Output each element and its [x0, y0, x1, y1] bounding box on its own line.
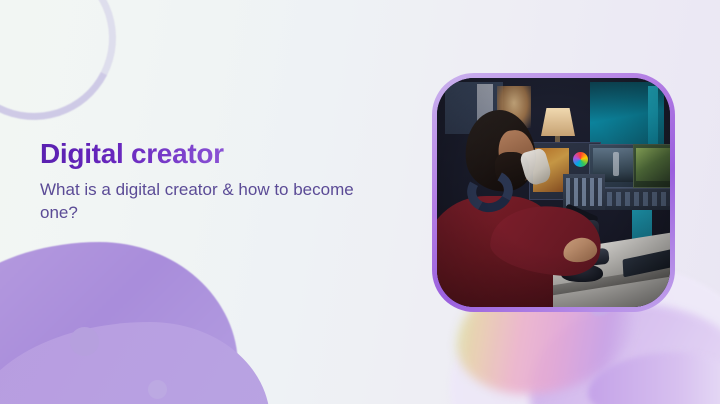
decorative-blob-bottom-left-secondary — [0, 322, 270, 404]
text-block: Digital creator What is a digital creato… — [40, 138, 400, 224]
decorative-blob-lilac-bottom-right — [530, 304, 720, 404]
photo-vignette — [437, 78, 670, 307]
decorative-circle-small-upper — [70, 327, 99, 356]
slide-canvas: Digital creator What is a digital creato… — [0, 0, 720, 404]
decorative-blob-bottom-left — [0, 242, 238, 404]
hero-image-frame — [437, 78, 670, 307]
page-subtitle: What is a digital creator & how to becom… — [40, 179, 385, 224]
page-title: Digital creator — [40, 138, 224, 169]
decorative-circle-small-lower — [148, 380, 167, 399]
decorative-ring-top-left — [0, 0, 137, 141]
decorative-blob-tail-bottom-right — [588, 352, 720, 404]
hero-image-card — [432, 73, 675, 312]
